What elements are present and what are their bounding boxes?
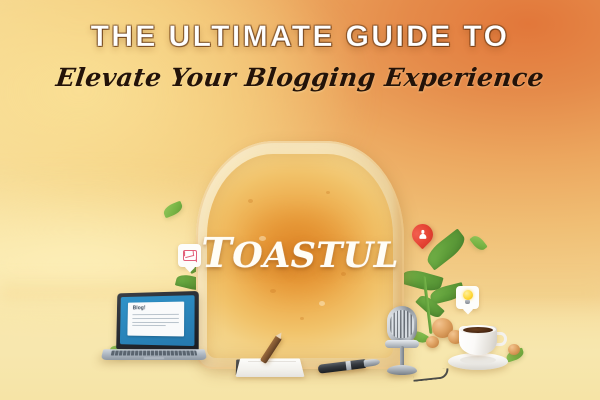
header-block: THE ULTIMATE GUIDE TO Elevate Your Blogg… [0, 22, 600, 91]
lightbulb-icon [461, 290, 474, 305]
doc-text-line [133, 314, 179, 315]
lightbulb-badge[interactable] [456, 286, 479, 309]
person-icon [418, 230, 427, 240]
microphone-head [387, 306, 417, 343]
notepad-rule-line [248, 361, 296, 362]
doc-text-line [133, 322, 180, 323]
bread-roll [508, 344, 520, 355]
coffee-saucer [448, 353, 508, 370]
microphone-grille [390, 310, 414, 338]
pen-band [345, 361, 351, 371]
envelope-flap-icon [184, 251, 193, 258]
toast-graphic: Toastul [196, 141, 404, 369]
doc-text-line [132, 325, 165, 326]
coffee-liquid [463, 327, 493, 333]
doc-text-line [133, 318, 179, 319]
page-subtitle: Elevate Your Blogging Experience [0, 65, 600, 91]
lightbulb-base-icon [465, 300, 470, 304]
coffee-saucer-well [460, 356, 496, 364]
laptop-lid: Blog! [116, 291, 199, 352]
notepad [238, 352, 302, 382]
person-glyph-icon [418, 230, 427, 240]
laptop-keyboard[interactable] [111, 350, 197, 355]
brand-label-first-letter: T [201, 229, 232, 277]
brand-label: Toastul [196, 229, 404, 277]
laptop[interactable]: Blog! [100, 292, 206, 374]
blog-document: Blog! [128, 302, 185, 336]
person-head-icon [421, 230, 425, 234]
laptop-base [101, 349, 208, 360]
bread-roll [426, 336, 439, 348]
coffee-cup [448, 322, 508, 370]
envelope-icon [183, 250, 197, 261]
lightbulb-glass-icon [463, 290, 473, 300]
page-title: THE ULTIMATE GUIDE TO [0, 22, 600, 52]
microphone [380, 306, 424, 378]
laptop-trackpad[interactable] [143, 357, 164, 359]
person-body-icon [419, 234, 426, 239]
poster-canvas: THE ULTIMATE GUIDE TO Elevate Your Blogg… [0, 0, 600, 400]
envelope-badge[interactable] [178, 244, 201, 267]
laptop-screen[interactable]: Blog! [120, 295, 195, 346]
brand-label-rest: oastul [232, 235, 399, 276]
blog-document-title: Blog! [133, 306, 179, 312]
